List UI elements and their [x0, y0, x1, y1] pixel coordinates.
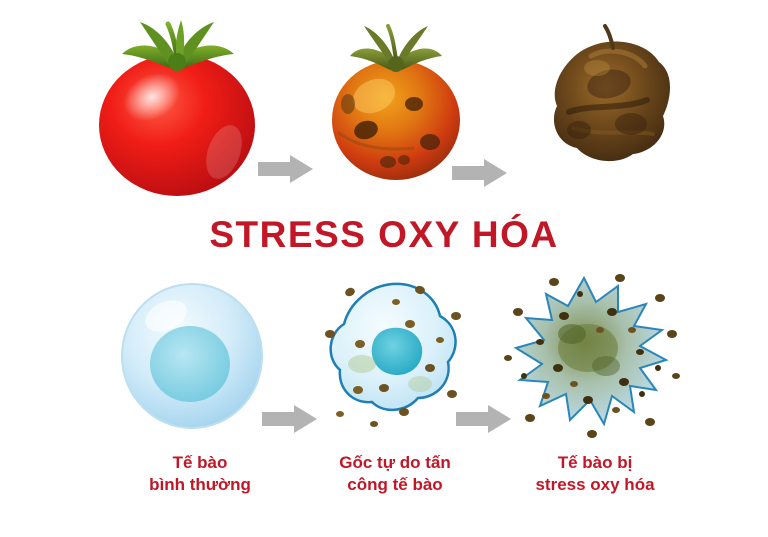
caption-attacked-cell: Gốc tự do tấn công tế bào	[280, 452, 510, 496]
page-title: STRESS OXY HÓA	[0, 214, 768, 256]
arrow-2	[452, 158, 508, 193]
rotten-tomato	[513, 12, 713, 202]
rotten-tomato-illustration	[513, 12, 713, 202]
tomato-progression-row	[0, 12, 768, 202]
caption-stressed-cell: Tế bào bị stress oxy hóa	[480, 452, 710, 496]
tomato-stem-icon	[350, 26, 442, 72]
fresh-tomato-illustration	[82, 12, 282, 202]
fresh-tomato	[82, 12, 282, 202]
stressed-cell	[500, 272, 690, 442]
cell-progression-row	[0, 272, 768, 442]
arrow-right-icon	[452, 158, 508, 188]
arrow-1	[258, 154, 314, 189]
stressed-cell-illustration	[500, 272, 690, 442]
arrow-right-icon	[258, 154, 314, 184]
diagram-canvas: STRESS OXY HÓA	[0, 0, 768, 537]
